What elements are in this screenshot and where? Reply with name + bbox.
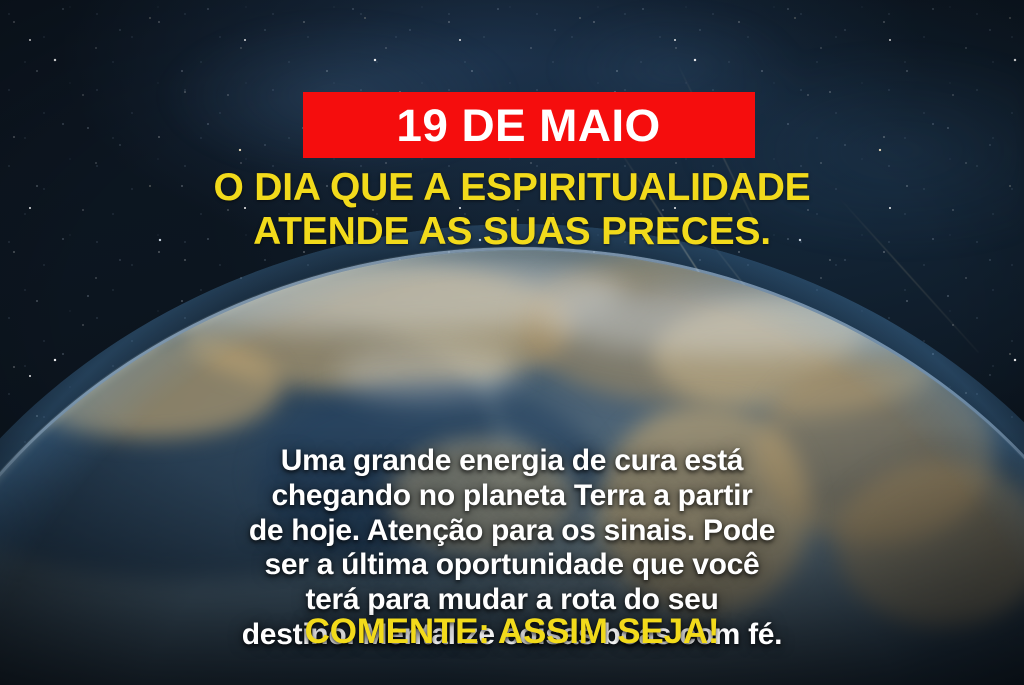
date-banner-text: 19 DE MAIO [397, 103, 661, 148]
call-to-action-text: COMENTE: ASSIM SEJA! [0, 613, 1024, 652]
body-line-1: Uma grande energia de cura está [48, 444, 976, 479]
body-line-3: de hoje. Atenção para os sinais. Pode [48, 514, 976, 549]
headline: O DIA QUE A ESPIRITUALIDADE ATENDE AS SU… [0, 166, 1024, 253]
poster-canvas: 19 DE MAIO O DIA QUE A ESPIRITUALIDADE A… [0, 0, 1024, 685]
body-line-2: chegando no planeta Terra a partir [48, 479, 976, 514]
headline-line-2: ATENDE AS SUAS PRECES. [0, 210, 1024, 254]
poster-content: 19 DE MAIO O DIA QUE A ESPIRITUALIDADE A… [0, 0, 1024, 685]
body-line-4: ser a última oportunidade que você [48, 548, 976, 583]
headline-line-1: O DIA QUE A ESPIRITUALIDADE [0, 166, 1024, 210]
date-banner: 19 DE MAIO [303, 92, 755, 158]
